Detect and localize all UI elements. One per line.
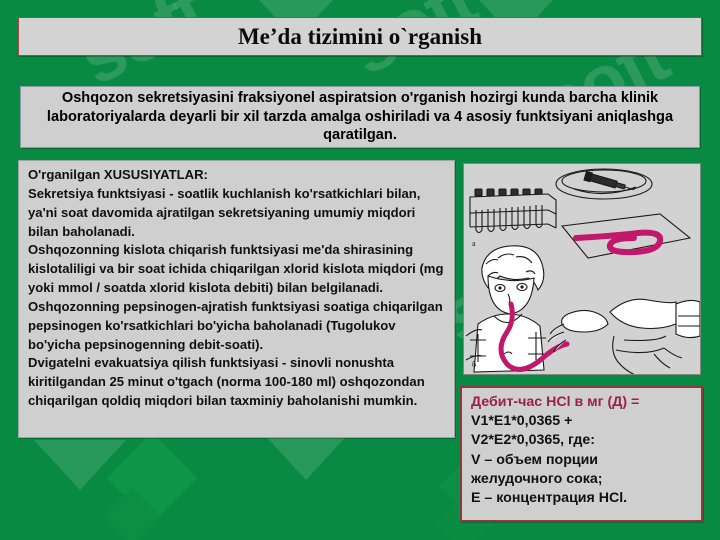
body-paragraph: Oshqozonning pepsinogen-ajratish funktsi…: [28, 298, 447, 355]
slide-title-box: Me’da tizimini o`rganish: [18, 17, 702, 56]
slide-canvas: soft soft soft soft soft Me’da tizimini …: [0, 0, 720, 540]
body-paragraph: Dvigatelni evakuatsiya qilish funktsiyas…: [28, 354, 447, 411]
formula-line: Дебит-час HCl в мг (Д) =: [471, 393, 695, 412]
figure-caption-a: а: [472, 239, 476, 248]
figure-caption-b: б: [472, 360, 476, 369]
body-paragraph: Oshqozonning kislota chiqarish funktsiya…: [28, 241, 447, 298]
figure-illustration: а: [464, 164, 700, 374]
subtitle-box: Oshqozon sekretsiyasini fraksiyonel aspi…: [20, 86, 700, 148]
subtitle-text: Oshqozon sekretsiyasini fraksiyonel aspi…: [31, 89, 689, 145]
gastric-intubation-figure: а: [463, 163, 701, 375]
body-paragraph: O'rganilgan XUSUSIYATLAR:: [28, 166, 447, 185]
formula-box: Дебит-час HCl в мг (Д) = V1*E1*0,0365 + …: [460, 386, 703, 522]
formula-line: V – объем порции: [471, 451, 695, 470]
watermark-logo: [98, 440, 218, 540]
formula-line: желудочного сока;: [471, 470, 695, 489]
formula-line: V1*E1*0,0365 +: [471, 412, 695, 431]
page-title: Me’da tizimini o`rganish: [238, 25, 482, 48]
formula-line: V2*E2*0,0365, где:: [471, 431, 695, 450]
body-text-box: O'rganilgan XUSUSIYATLAR: Sekretsiya fun…: [18, 160, 455, 438]
watermark-chevron: [34, 440, 126, 490]
formula-line: E – концентрация HCl.: [471, 489, 695, 508]
body-paragraph-list: O'rganilgan XUSUSIYATLAR: Sekretsiya fun…: [28, 166, 447, 411]
body-paragraph: Sekretsiya funktsiyasi - soatlik kuchlan…: [28, 185, 447, 242]
